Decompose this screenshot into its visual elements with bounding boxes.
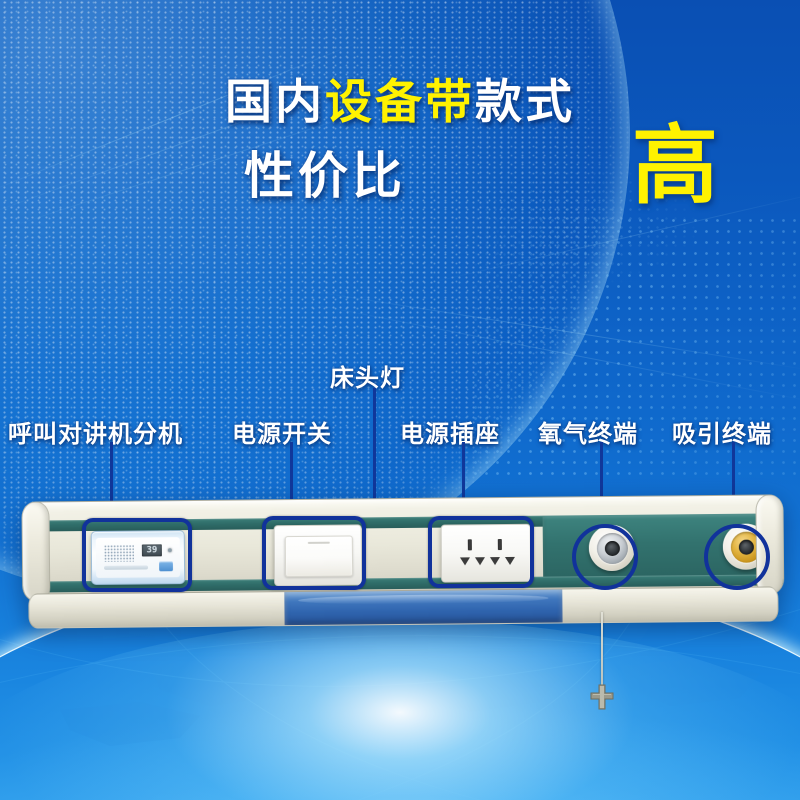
headline-part-1: 国内 <box>225 75 325 128</box>
callout-label-bedlamp: 床头灯 <box>330 358 405 393</box>
light-streak <box>0 39 365 197</box>
headline-highlight-character: 高 <box>632 123 718 209</box>
bhu-lower-rail <box>28 586 778 628</box>
headline-part-3: 款式 <box>475 75 575 128</box>
halftone-dot-grid-center <box>455 160 705 290</box>
headline-part-2-accent: 设备带 <box>325 75 475 128</box>
headline-block: 国内设备带款式 性价比 高 <box>0 78 800 229</box>
highlight-box-intercom <box>82 518 192 592</box>
highlight-box-socket <box>428 516 534 588</box>
callout-label-oxygen: 氧气终端 <box>538 414 638 449</box>
light-streak <box>0 61 406 219</box>
highlight-circle-suction <box>704 524 770 590</box>
light-streak <box>0 100 400 234</box>
pull-cord-handle-icon[interactable] <box>588 683 616 711</box>
horizon-glow <box>0 620 800 800</box>
callout-label-switch: 电源开关 <box>232 414 332 449</box>
headline-line-2-row: 性价比 高 <box>0 149 800 229</box>
bed-lamp-diffuser[interactable] <box>284 589 562 625</box>
light-streak <box>425 189 800 284</box>
callout-label-socket: 电源插座 <box>400 414 500 449</box>
callout-label-intercom: 呼叫对讲机分机 <box>8 414 183 449</box>
callout-label-suction: 吸引终端 <box>672 414 772 449</box>
pull-cord-line[interactable] <box>601 612 603 694</box>
headline-line-1: 国内设备带款式 <box>0 78 800 125</box>
product-banner: 国内设备带款式 性价比 高 呼叫对讲机分机 电源开关 床头灯 电源插座 氧气终端… <box>0 0 800 800</box>
headline-line-2: 性价比 <box>0 151 800 201</box>
highlight-circle-oxygen <box>572 524 638 590</box>
highlight-box-switch <box>262 516 366 590</box>
bhu-end-cap-left <box>21 501 50 601</box>
